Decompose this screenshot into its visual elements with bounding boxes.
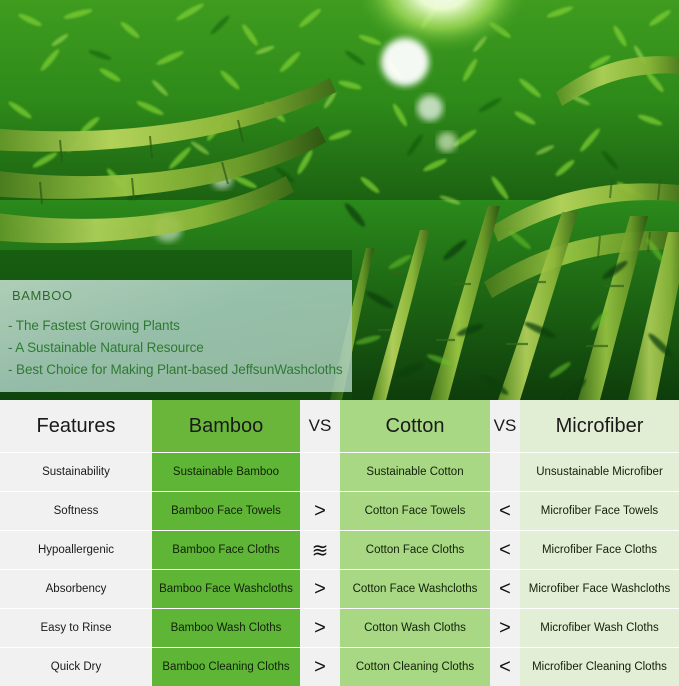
- table-row: Softness Bamboo Face Towels > Cotton Fac…: [0, 492, 679, 530]
- row-compare-cotton-microfiber: <: [490, 570, 520, 608]
- row-microfiber-value: Unsustainable Microfiber: [520, 453, 679, 491]
- row-cotton-value: Cotton Face Washcloths: [340, 570, 490, 608]
- row-feature-label: Sustainability: [0, 453, 152, 491]
- row-compare-cotton-microfiber: [490, 453, 520, 491]
- row-feature-label: Hypoallergenic: [0, 531, 152, 569]
- banner-benefit-item: - Best Choice for Making Plant-based Jef…: [8, 359, 344, 381]
- row-microfiber-value: Microfiber Wash Cloths: [520, 609, 679, 647]
- row-cotton-value: Cotton Face Towels: [340, 492, 490, 530]
- comparison-table: Features Bamboo VS Cotton VS Microfiber …: [0, 400, 679, 679]
- row-bamboo-value: Bamboo Cleaning Cloths: [152, 648, 300, 686]
- row-feature-label: Softness: [0, 492, 152, 530]
- row-compare-cotton-microfiber: <: [490, 492, 520, 530]
- row-microfiber-value: Microfiber Face Washcloths: [520, 570, 679, 608]
- row-compare-cotton-microfiber: <: [490, 531, 520, 569]
- row-compare-bamboo-cotton: [300, 453, 340, 491]
- table-row: Hypoallergenic Bamboo Face Cloths ≋ Cott…: [0, 531, 679, 569]
- row-cotton-value: Cotton Cleaning Cloths: [340, 648, 490, 686]
- row-compare-bamboo-cotton: >: [300, 648, 340, 686]
- header-vs-first: VS: [300, 400, 340, 452]
- row-compare-bamboo-cotton: >: [300, 609, 340, 647]
- banner-benefit-list: - The Fastest Growing Plants - A Sustain…: [8, 315, 344, 381]
- row-compare-bamboo-cotton: >: [300, 570, 340, 608]
- row-compare-bamboo-cotton: ≋: [300, 531, 340, 569]
- table-row: Sustainability Sustainable Bamboo Sustai…: [0, 453, 679, 491]
- row-bamboo-value: Sustainable Bamboo: [152, 453, 300, 491]
- row-microfiber-value: Microfiber Cleaning Cloths: [520, 648, 679, 686]
- banner-benefit-item: - A Sustainable Natural Resource: [8, 337, 344, 359]
- row-bamboo-value: Bamboo Face Towels: [152, 492, 300, 530]
- row-feature-label: Quick Dry: [0, 648, 152, 686]
- table-row: Quick Dry Bamboo Cleaning Cloths > Cotto…: [0, 648, 679, 686]
- table-header-row: Features Bamboo VS Cotton VS Microfiber: [0, 400, 679, 452]
- table-row: Easy to Rinse Bamboo Wash Cloths > Cotto…: [0, 609, 679, 647]
- row-microfiber-value: Microfiber Face Towels: [520, 492, 679, 530]
- row-feature-label: Absorbency: [0, 570, 152, 608]
- header-bamboo: Bamboo: [152, 400, 300, 452]
- header-vs-second: VS: [490, 400, 520, 452]
- bamboo-benefits-banner: BAMBOO - The Fastest Growing Plants - A …: [0, 280, 352, 392]
- row-compare-cotton-microfiber: >: [490, 609, 520, 647]
- header-microfiber: Microfiber: [520, 400, 679, 452]
- row-compare-cotton-microfiber: <: [490, 648, 520, 686]
- row-microfiber-value: Microfiber Face Cloths: [520, 531, 679, 569]
- row-compare-bamboo-cotton: >: [300, 492, 340, 530]
- row-bamboo-value: Bamboo Face Washcloths: [152, 570, 300, 608]
- product-comparison-infographic: BAMBOO - The Fastest Growing Plants - A …: [0, 0, 679, 679]
- header-features: Features: [0, 400, 152, 452]
- banner-benefit-item: - The Fastest Growing Plants: [8, 315, 344, 337]
- row-bamboo-value: Bamboo Wash Cloths: [152, 609, 300, 647]
- row-cotton-value: Cotton Face Cloths: [340, 531, 490, 569]
- header-cotton: Cotton: [340, 400, 490, 452]
- banner-title: BAMBOO: [8, 289, 344, 303]
- row-feature-label: Easy to Rinse: [0, 609, 152, 647]
- row-bamboo-value: Bamboo Face Cloths: [152, 531, 300, 569]
- row-cotton-value: Cotton Wash Cloths: [340, 609, 490, 647]
- table-row: Absorbency Bamboo Face Washcloths > Cott…: [0, 570, 679, 608]
- row-cotton-value: Sustainable Cotton: [340, 453, 490, 491]
